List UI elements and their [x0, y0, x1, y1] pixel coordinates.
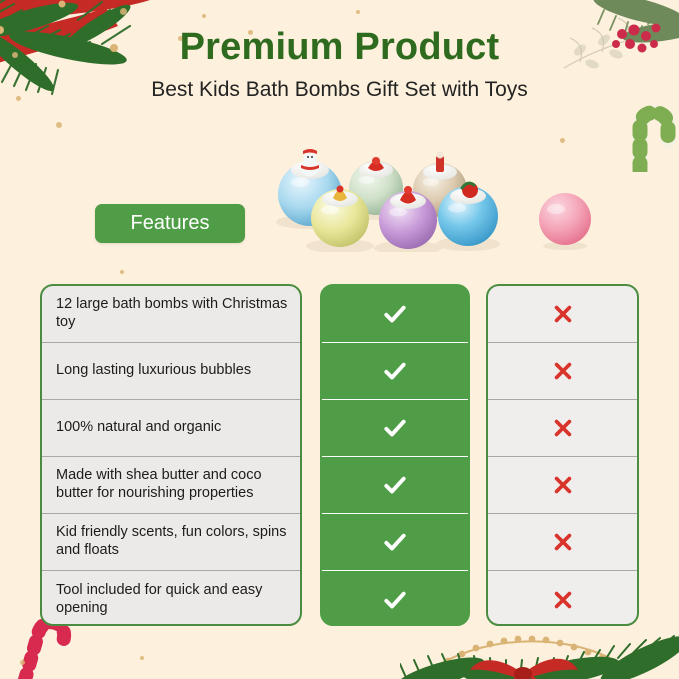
- table-cell-cross: [488, 571, 637, 626]
- other-bath-bomb-pink-image: [535, 190, 595, 250]
- confetti-dot: [120, 270, 124, 274]
- candy-cane-green-top-right: [630, 92, 679, 172]
- infographic-page: Premium Product Best Kids Bath Bombs Gif…: [0, 0, 679, 679]
- features-column: 12 large bath bombs with Christmas toy L…: [40, 284, 302, 626]
- feature-label: Tool included for quick and easy opening: [56, 582, 288, 617]
- table-cell-cross: [488, 286, 637, 343]
- table-cell-check: [322, 514, 468, 571]
- feature-label: Made with shea butter and coco butter fo…: [56, 467, 288, 502]
- header: Premium Product Best Kids Bath Bombs Gif…: [0, 28, 679, 101]
- cross-icon: [552, 417, 574, 439]
- feature-label: Kid friendly scents, fun colors, spins a…: [56, 524, 288, 559]
- cross-icon: [552, 531, 574, 553]
- check-icon: [382, 301, 408, 327]
- check-icon: [382, 415, 408, 441]
- confetti-dot: [356, 10, 360, 14]
- table-cell-cross: [488, 400, 637, 457]
- page-subtitle: Best Kids Bath Bombs Gift Set with Toys: [0, 78, 679, 101]
- table-cell-cross: [488, 514, 637, 571]
- features-badge-label: Features: [131, 212, 210, 235]
- check-icon: [382, 358, 408, 384]
- confetti-dot: [202, 14, 206, 18]
- comparison-table: 12 large bath bombs with Christmas toy L…: [40, 284, 639, 626]
- check-icon: [382, 472, 408, 498]
- confetti-dot: [120, 8, 127, 15]
- confetti-dot: [20, 660, 25, 665]
- other-product-column: [486, 284, 639, 626]
- table-cell-check: [322, 571, 468, 626]
- table-cell-cross: [488, 457, 637, 514]
- check-icon: [382, 587, 408, 613]
- table-row: Made with shea butter and coco butter fo…: [42, 457, 300, 514]
- premium-product-column: [320, 284, 470, 626]
- check-icon: [382, 529, 408, 555]
- table-row: 100% natural and organic: [42, 400, 300, 457]
- table-cell-check: [322, 457, 468, 514]
- table-row: 12 large bath bombs with Christmas toy: [42, 286, 300, 343]
- feature-label: Long lasting luxurious bubbles: [56, 362, 251, 380]
- cross-icon: [552, 360, 574, 382]
- confetti-dot: [560, 138, 565, 143]
- table-cell-check: [322, 400, 468, 457]
- feature-label: 100% natural and organic: [56, 419, 221, 437]
- premium-bath-bomb-set-image: [268, 148, 500, 252]
- confetti-dot: [56, 122, 62, 128]
- feature-label: 12 large bath bombs with Christmas toy: [56, 296, 288, 331]
- table-row: Tool included for quick and easy opening: [42, 571, 300, 626]
- confetti-dot: [140, 656, 144, 660]
- table-cell-check: [322, 286, 468, 343]
- table-cell-cross: [488, 343, 637, 400]
- cross-icon: [552, 474, 574, 496]
- cross-icon: [552, 303, 574, 325]
- table-row: Kid friendly scents, fun colors, spins a…: [42, 514, 300, 571]
- features-badge: Features: [95, 204, 245, 243]
- page-title: Premium Product: [0, 28, 679, 68]
- table-cell-check: [322, 343, 468, 400]
- table-row: Long lasting luxurious bubbles: [42, 343, 300, 400]
- cross-icon: [552, 589, 574, 611]
